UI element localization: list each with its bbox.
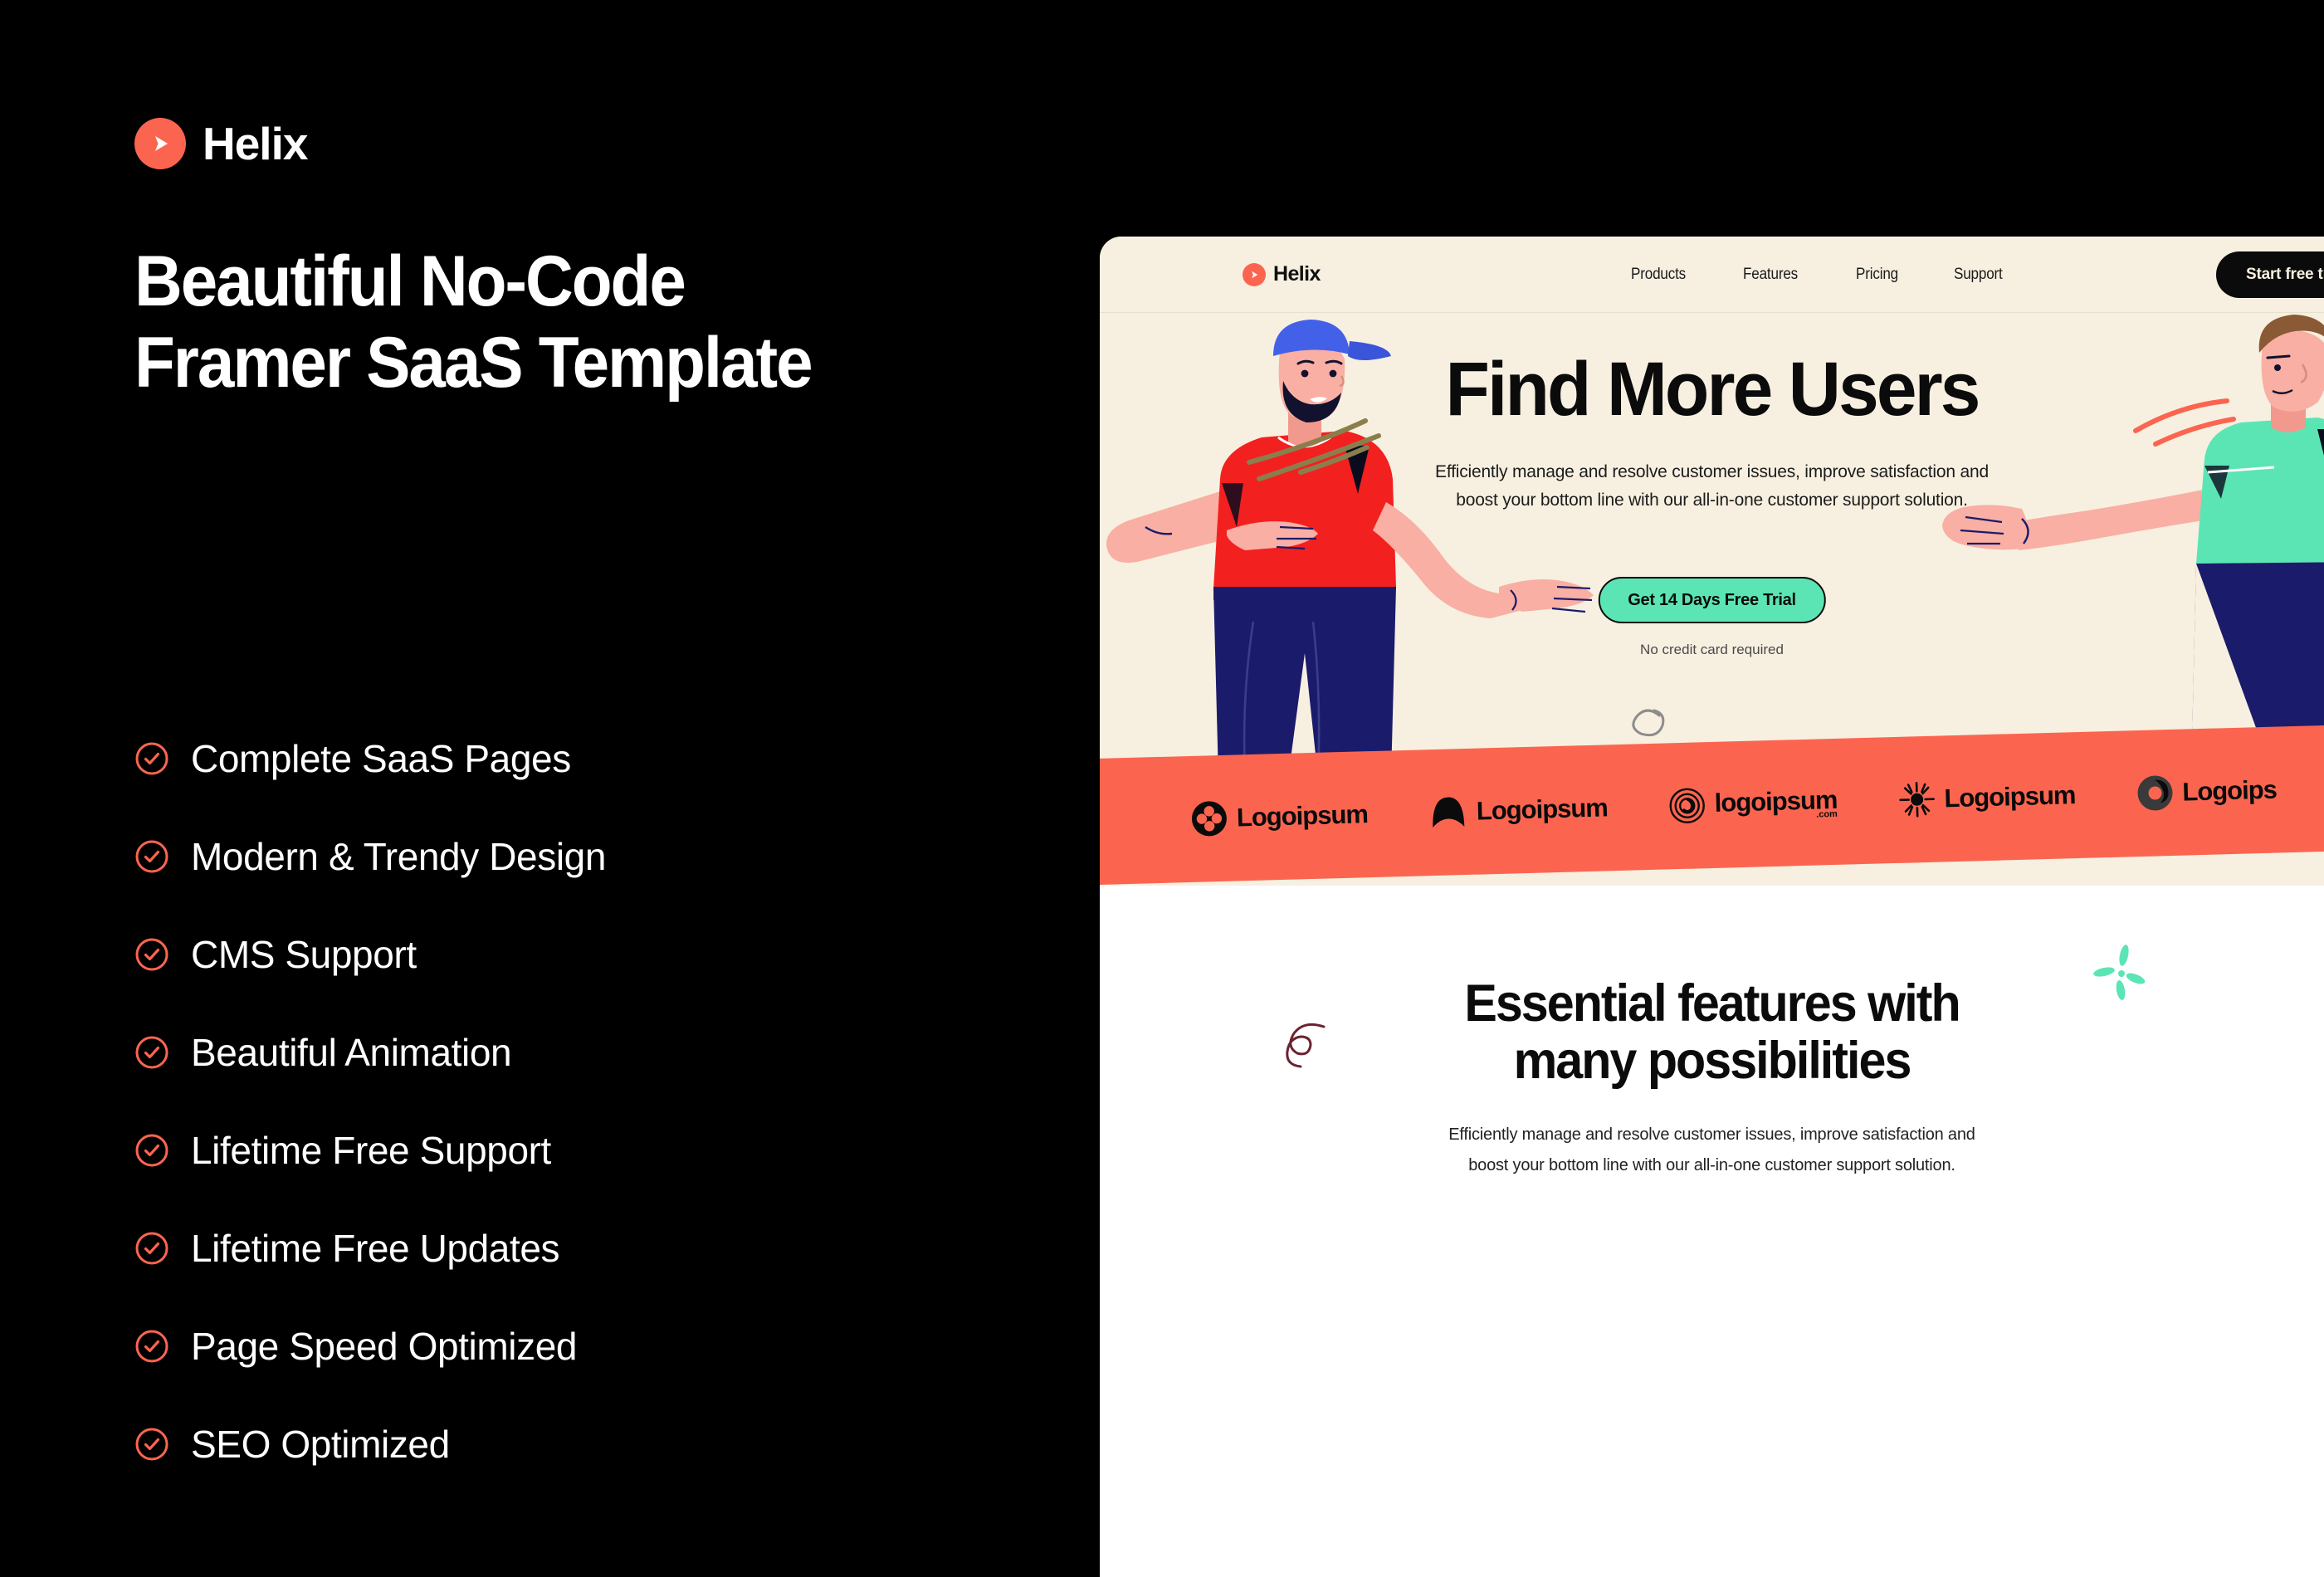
page-title: Beautiful No-Code Framer SaaS Template [134,241,999,403]
hero-note: No credit card required [1640,642,1784,658]
get-free-trial-button[interactable]: Get 14 Days Free Trial [1598,577,1825,623]
list-item: Modern & Trendy Design [134,808,1064,906]
hero-section: Find More Users Efficiently manage and r… [1100,313,2324,778]
list-item: SEO Optimized [134,1395,1064,1493]
check-circle-icon [134,1231,169,1266]
list-item: CMS Support [134,906,1064,1003]
play-arrow-icon [134,118,186,169]
headline-line-2: Framer SaaS Template [134,322,999,403]
nav-link-support[interactable]: Support [1954,266,2003,284]
check-circle-icon [134,1133,169,1168]
swirl-circle-icon [2136,774,2174,812]
hero-title: Find More Users [1130,351,2293,427]
list-item: Page Speed Optimized [134,1297,1064,1395]
list-item: Beautiful Animation [134,1003,1064,1101]
check-circle-icon [134,1427,169,1462]
features-title-line-2: many possibilities [1136,1033,2287,1090]
list-item-label: SEO Optimized [191,1425,450,1463]
features-title: Essential features with many possibiliti… [1136,975,2287,1091]
logo-item: Logoips [2136,772,2278,813]
logo-item-label: Logoipsum [1944,780,2076,813]
list-item-label: Page Speed Optimized [191,1327,577,1365]
list-item: Complete SaaS Pages [134,710,1064,808]
features-title-line-1: Essential features with [1136,975,2287,1033]
brand-logo: Helix [134,118,307,169]
nav-brand-logo[interactable]: Helix [1243,263,1321,286]
logo-item-label: Logoips [2182,775,2277,808]
start-free-trial-button[interactable]: Start free trial [2216,251,2324,298]
list-item: Lifetime Free Support [134,1101,1064,1199]
check-circle-icon [134,1035,169,1070]
logo-item: Logoipsum [1898,777,2076,818]
check-circle-icon [134,839,169,874]
clover-circle-icon [1190,800,1228,837]
promo-panel: Helix Beautiful No-Code Framer SaaS Temp… [0,0,1100,1577]
nav-link-pricing[interactable]: Pricing [1856,266,1898,284]
check-circle-icon [134,1329,169,1364]
logo-item: logoipsum .com [1668,784,1838,824]
list-item-label: Lifetime Free Support [191,1131,551,1169]
features-section: Essential features with many possibiliti… [1100,886,2324,1577]
feature-list: Complete SaaS Pages Modern & Trendy Desi… [134,710,1064,1493]
logo-item-label: logoipsum .com [1714,784,1838,822]
nav-links: Products Features Pricing Support [1631,266,2009,284]
nav-link-features[interactable]: Features [1743,266,1798,284]
logo-item: Logoipsum [1190,796,1368,837]
list-item-label: Modern & Trendy Design [191,837,606,876]
brand-name: Helix [203,121,307,167]
list-item-label: Complete SaaS Pages [191,740,571,778]
features-subtitle: Efficiently manage and resolve customer … [1447,1120,1978,1181]
list-item-label: CMS Support [191,935,417,974]
gray-spiral-decoration [1623,699,1681,749]
hero-subtitle: Efficiently manage and resolve customer … [1430,458,1994,515]
list-item-label: Beautiful Animation [191,1033,511,1072]
site-navbar: Helix Products Features Pricing Support … [1100,237,2324,313]
nav-link-products[interactable]: Products [1631,266,1686,284]
headline-line-1: Beautiful No-Code [134,241,999,322]
list-item-label: Lifetime Free Updates [191,1229,559,1267]
logo-item: Logoipsum [1428,789,1608,831]
nav-brand-name: Helix [1273,264,1321,285]
sunburst-icon [1898,781,1936,818]
check-circle-icon [134,741,169,776]
list-item: Lifetime Free Updates [134,1199,1064,1297]
play-arrow-icon [1243,263,1266,286]
template-preview-mockup: Helix Products Features Pricing Support … [1100,237,2324,1577]
check-circle-icon [134,937,169,972]
spiral-circle-icon [1668,787,1706,824]
logo-item-label: Logoipsum [1236,799,1368,832]
arch-icon [1428,793,1467,831]
logo-item-label: Logoipsum [1476,793,1608,826]
